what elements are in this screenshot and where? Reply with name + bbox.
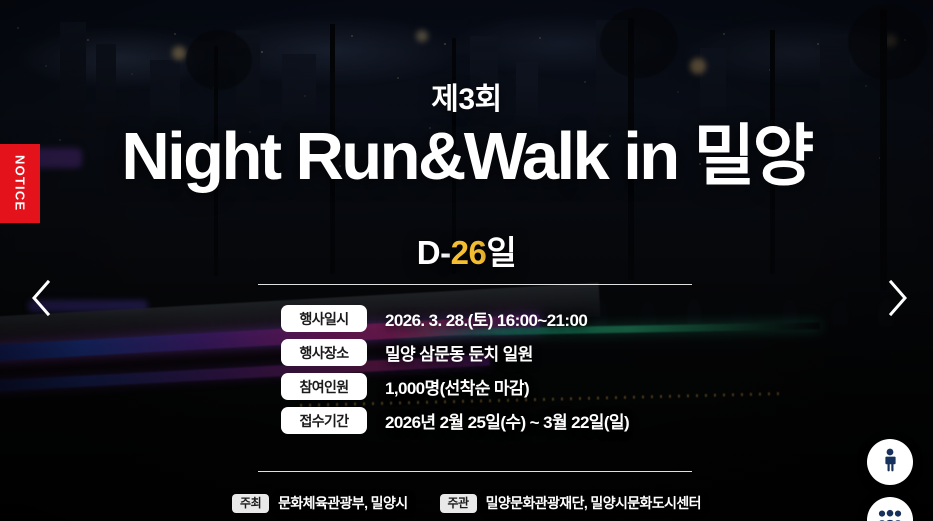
info-row: 행사일시 2026. 3. 28.(토) 16:00~21:00	[281, 305, 629, 332]
event-info-table: 행사일시 2026. 3. 28.(토) 16:00~21:00 행사장소 밀양…	[281, 305, 629, 434]
carousel-prev-button[interactable]	[15, 272, 67, 324]
event-title: Night Run&Walk in 밀양	[0, 122, 933, 192]
person-icon	[879, 448, 901, 477]
accessibility-button[interactable]	[867, 439, 913, 485]
dday-number: 26	[451, 234, 487, 271]
hero-content: 제3회 Night Run&Walk in 밀양 D-26일 행사일시 2026…	[0, 0, 933, 521]
divider-top	[258, 284, 692, 285]
carousel-next-button[interactable]	[872, 272, 924, 324]
people-group-icon	[876, 509, 904, 521]
info-label-place: 행사장소	[281, 339, 367, 366]
info-label-date: 행사일시	[281, 305, 367, 332]
chevron-left-icon	[28, 278, 54, 318]
info-value-participants: 1,000명(선착순 마감)	[385, 374, 529, 399]
hero-banner: NOTICE 제3회 Night Run&Walk in 밀양 D-26일 행사…	[0, 0, 933, 521]
dday-suffix: 일	[486, 234, 516, 271]
chevron-right-icon	[885, 278, 911, 318]
host-value: 문화체육관광부, 밀양시	[278, 493, 407, 513]
notice-tab-label: NOTICE	[13, 155, 28, 211]
info-label-registration: 접수기간	[281, 407, 367, 434]
notice-tab[interactable]: NOTICE	[0, 144, 40, 223]
info-row: 행사장소 밀양 삼문동 둔치 일원	[281, 339, 629, 366]
info-value-registration: 2026년 2월 25일(수) ~ 3월 22일(일)	[385, 408, 629, 433]
info-value-place: 밀양 삼문동 둔치 일원	[385, 340, 533, 365]
dday-counter: D-26일	[0, 226, 933, 274]
organizer-footer: 주최 문화체육관광부, 밀양시 주관 밀양문화관광재단, 밀양시문화도시센터	[0, 493, 933, 513]
host-badge: 주최	[232, 494, 269, 513]
info-label-participants: 참여인원	[281, 373, 367, 400]
info-row: 참여인원 1,000명(선착순 마감)	[281, 373, 629, 400]
organizer-value: 밀양문화관광재단, 밀양시문화도시센터	[486, 493, 701, 513]
dday-prefix: D-	[417, 234, 451, 271]
event-edition-kicker: 제3회	[0, 74, 933, 118]
info-row: 접수기간 2026년 2월 25일(수) ~ 3월 22일(일)	[281, 407, 629, 434]
organizer-badge: 주관	[440, 494, 477, 513]
info-value-date: 2026. 3. 28.(토) 16:00~21:00	[385, 306, 587, 331]
divider-bottom	[258, 471, 692, 472]
